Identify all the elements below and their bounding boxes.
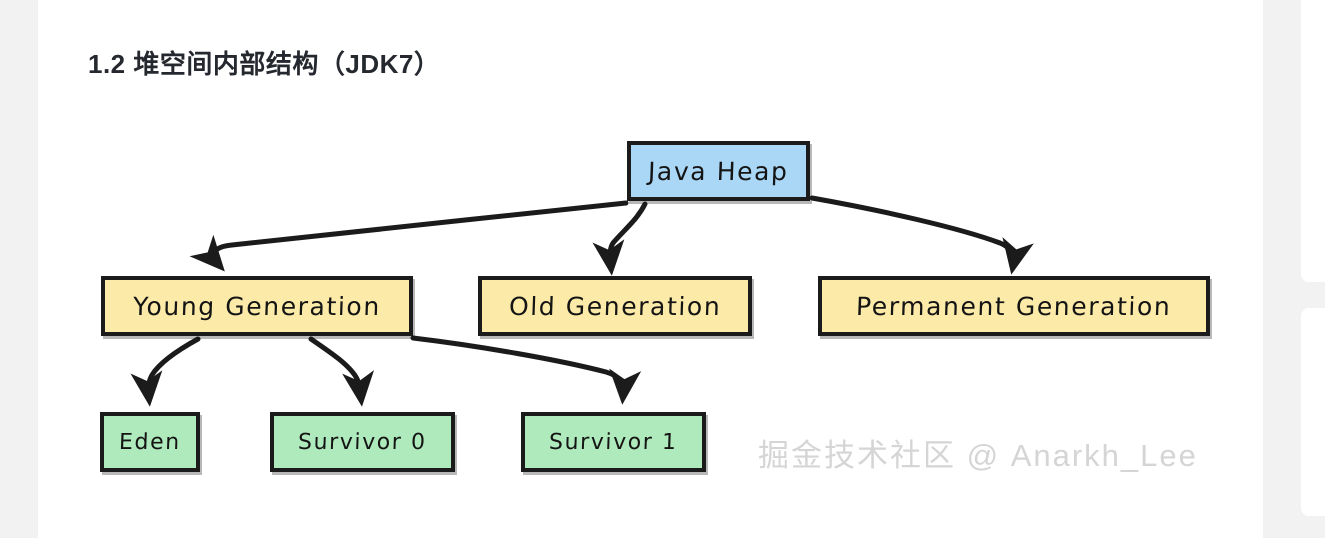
node-java-heap[interactable]: Java Heap — [627, 141, 810, 201]
node-old-generation[interactable]: Old Generation — [478, 276, 752, 336]
node-permanent-generation[interactable]: Permanent Generation — [818, 276, 1210, 336]
node-young-generation[interactable]: Young Generation — [101, 276, 413, 336]
watermark: 掘金技术社区 @ Anarkh_Lee — [758, 430, 1198, 475]
node-survivor-0-label: Survivor 0 — [298, 430, 427, 455]
node-eden[interactable]: Eden — [100, 412, 200, 472]
edge-young-to-eden — [148, 339, 198, 398]
node-eden-label: Eden — [119, 430, 182, 455]
node-young-generation-label: Young Generation — [133, 292, 382, 321]
node-java-heap-label: Java Heap — [648, 157, 790, 186]
edge-heap-to-old — [610, 204, 645, 267]
node-old-generation-label: Old Generation — [508, 292, 721, 321]
edge-young-to-survivor1 — [413, 338, 623, 396]
edge-heap-to-young — [214, 203, 626, 265]
edge-young-to-survivor0 — [311, 339, 361, 398]
node-survivor-1[interactable]: Survivor 1 — [521, 412, 706, 472]
edge-heap-to-permanent — [812, 198, 1014, 266]
node-survivor-0[interactable]: Survivor 0 — [270, 412, 455, 472]
screenshot-root: 1.2 堆空间内部结构（JDK7） Java Heap Young Genera… — [0, 0, 1325, 538]
heap-structure-diagram: Java Heap Young Generation Old Generatio… — [0, 0, 1325, 538]
node-permanent-generation-label: Permanent Generation — [856, 292, 1172, 321]
node-survivor-1-label: Survivor 1 — [549, 430, 678, 455]
